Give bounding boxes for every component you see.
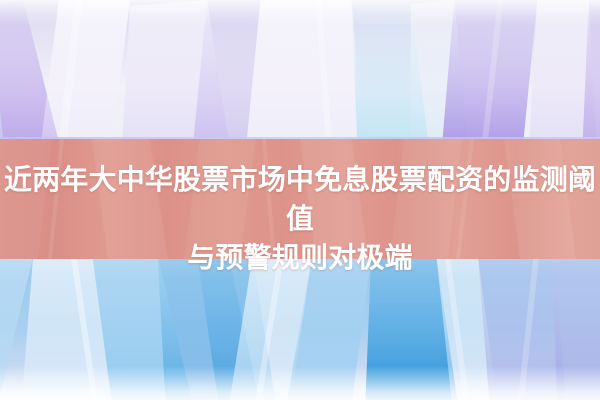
banner-headline: 近两年大中华股票市场中免息股票配资的监测阈值 与预警规则对极端 (0, 160, 600, 277)
top-light-fade (0, 0, 600, 26)
promo-banner: 近两年大中华股票市场中免息股票配资的监测阈值 与预警规则对极端 (0, 0, 600, 400)
bottom-light-fade (0, 366, 600, 400)
